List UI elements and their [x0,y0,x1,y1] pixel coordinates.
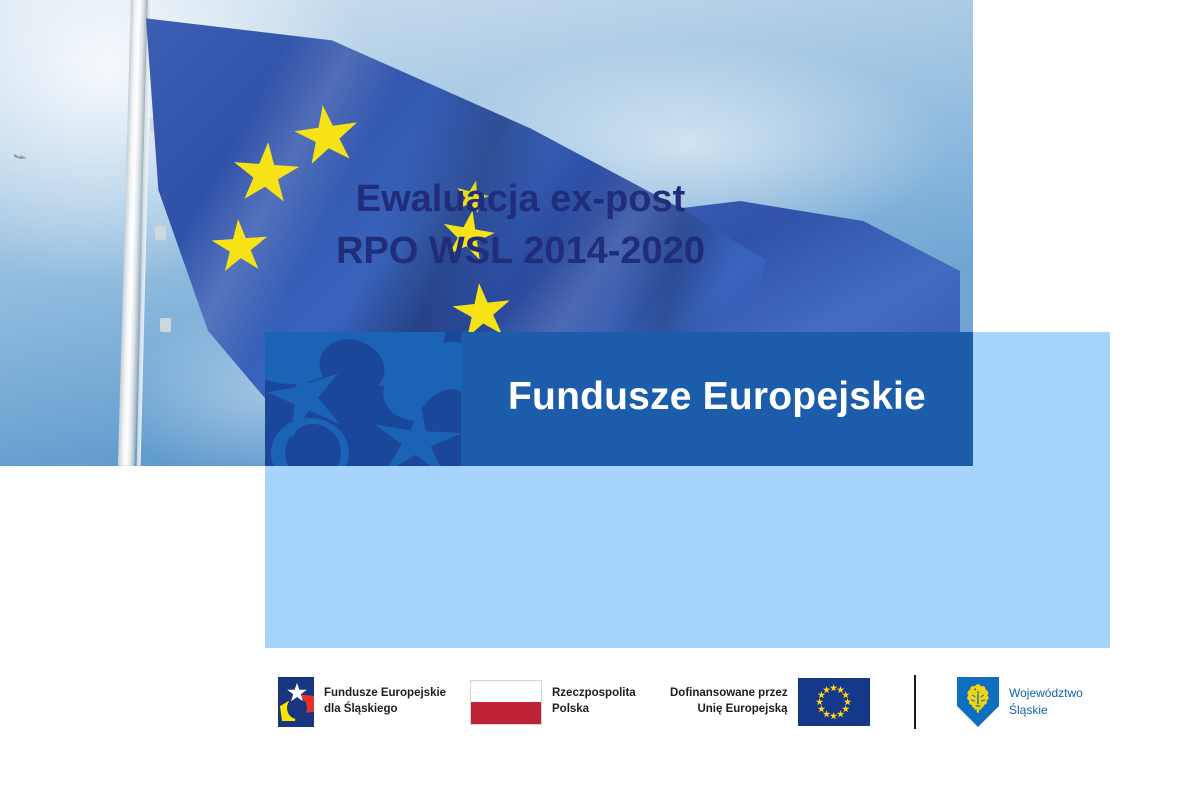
logo-label: Fundusze Europejskie dla Śląskiego [324,686,446,718]
fe-navy-curve [287,697,307,719]
logo-label: Dofinansowane przez Unię Europejską [670,686,788,718]
logo-rzeczpospolita-polska: Rzeczpospolita Polska [470,680,636,725]
panel-title-line-2: RPO WSL 2014-2020 [336,225,705,277]
eu-flag-star [837,686,845,694]
logo-label-line-2: Polska [552,702,636,718]
fundusze-europejskie-banner: Fundusze Europejskie [265,332,973,466]
fundusze-europejskie-title: Fundusze Europejskie [461,332,973,466]
eu-flag-star [842,691,850,699]
panel-title-line-1: Ewaluacja ex-post [356,173,685,225]
eu-flag-star [823,686,831,694]
poland-flag-red-band [471,702,541,724]
logo-divider [914,675,916,729]
logo-label-line-1: Województwo [1009,685,1083,702]
silesia-coat-of-arms-icon [957,677,999,727]
logo-label: Rzeczpospolita Polska [552,686,636,718]
eu-flag-star [816,698,824,706]
logo-label-line-1: Dofinansowane przez [670,686,788,702]
logo-dofinansowane-przez-unie-europejska: Dofinansowane przez Unię Europejską [670,678,870,726]
banner-canvas: Fundusze Europejskie Ewaluacja ex-post R… [0,0,1200,800]
fundusze-europejskie-pattern [265,332,461,466]
eu-flag-star [817,691,825,699]
eu-flag-star [823,710,831,718]
logo-label: Województwo Śląskie [1009,685,1083,718]
logo-bar: Fundusze Europejskie dla Śląskiego Rzecz… [0,652,1200,752]
eu-flag-star [842,705,850,713]
eu-flag-icon [798,678,870,726]
logo-label-line-2: dla Śląskiego [324,702,446,718]
logo-fundusze-europejskie-dla-slaskiego: Fundusze Europejskie dla Śląskiego [278,677,446,727]
logo-label-line-2: Śląskie [1009,702,1083,719]
logo-wojewodztwo-slaskie: Województwo Śląskie [957,677,1083,727]
flagpole-cleat [155,226,166,240]
eu-flag-star [817,705,825,713]
poland-flag-icon [470,680,542,725]
eu-flag-star [830,712,838,720]
eu-flag-star [830,684,838,692]
logo-label-line-2: Unię Europejską [670,702,788,718]
logo-label-line-1: Rzeczpospolita [552,686,636,702]
fundusze-europejskie-star-icon [278,677,314,727]
flagpole-cleat [160,318,171,332]
silesia-eagle-icon [962,682,994,718]
logo-label-line-1: Fundusze Europejskie [324,686,446,702]
poland-flag-white-band [471,681,541,703]
panel-title: Ewaluacja ex-post RPO WSL 2014-2020 [196,134,845,316]
eu-flag-star [837,710,845,718]
eu-flag-star [844,698,852,706]
